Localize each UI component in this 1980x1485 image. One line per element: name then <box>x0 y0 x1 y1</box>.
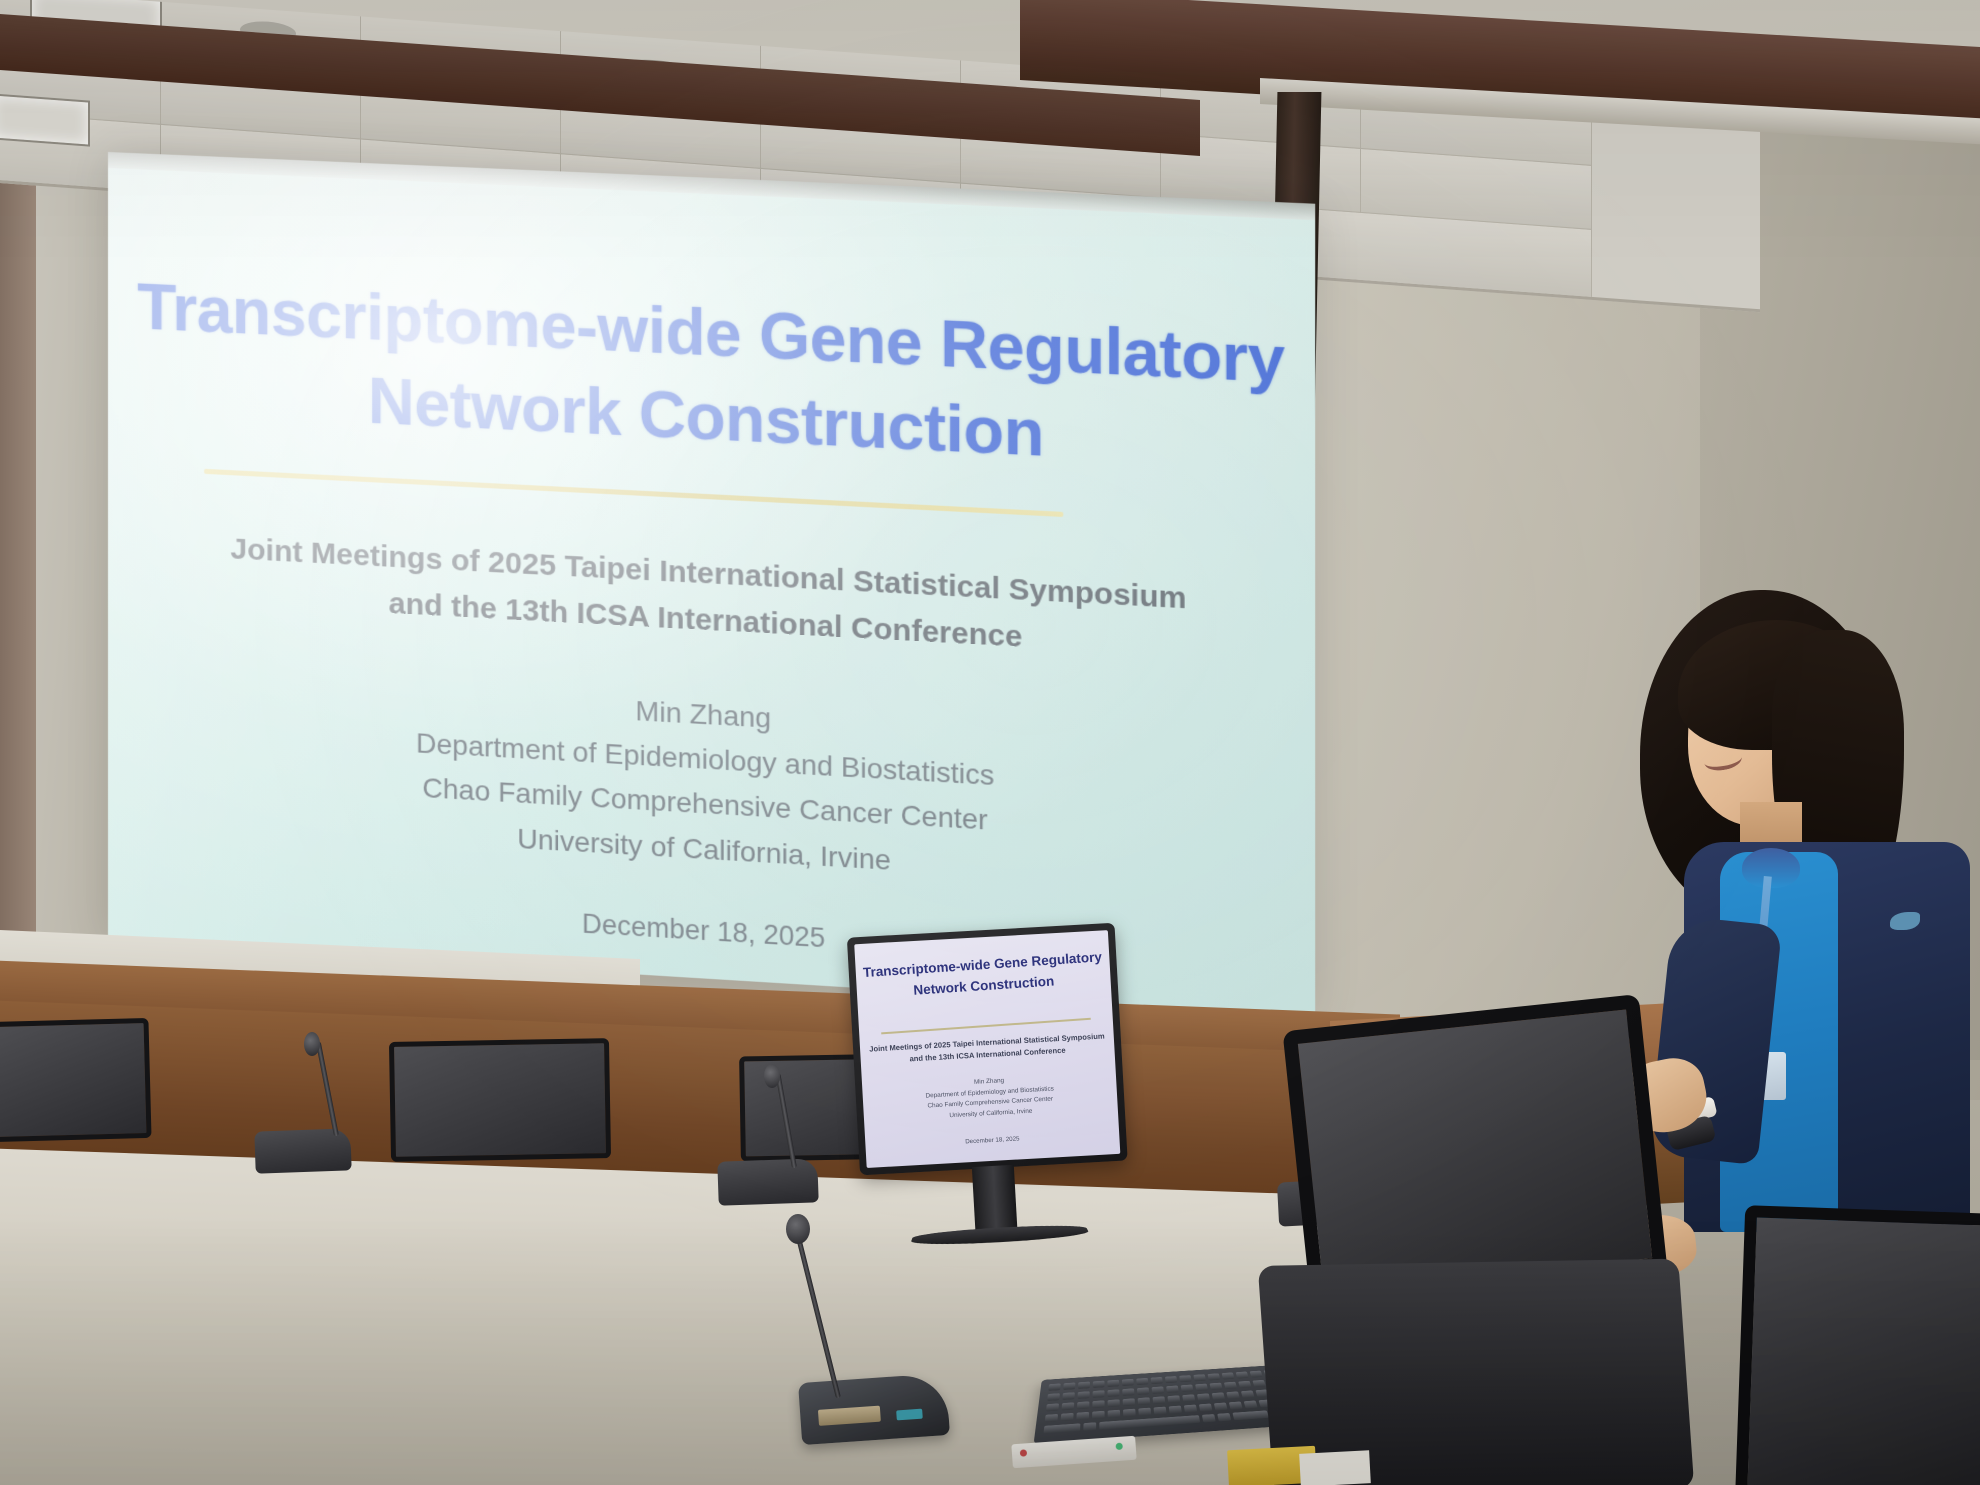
monitor-bezel: Transcriptome-wide Gene Regulatory Netwo… <box>847 923 1128 1176</box>
desk-microphone-capsule <box>786 1214 810 1244</box>
slide-divider-rule <box>204 469 1063 517</box>
right-side-chair <box>1735 1205 1980 1485</box>
table-microphone-head-1 <box>304 1032 320 1056</box>
slide-conference-block: Joint Meetings of 2025 Taipei Internatio… <box>108 520 1315 676</box>
desk-microphone-unit[interactable] <box>798 1373 950 1445</box>
ceiling-light <box>0 93 90 146</box>
presenter-confidence-monitor[interactable]: Transcriptome-wide Gene Regulatory Netwo… <box>847 923 1131 1237</box>
monitor-screen: Transcriptome-wide Gene Regulatory Netwo… <box>854 930 1120 1168</box>
table-microphone-base-2 <box>717 1158 818 1205</box>
desk-microphone-indicator <box>896 1409 923 1421</box>
chair-back-center-left <box>389 1038 611 1162</box>
monitor-divider-rule <box>881 1018 1091 1035</box>
desk-microphone-label-plate <box>818 1406 881 1426</box>
wall-left-shadow <box>0 120 36 1000</box>
monitor-stand-neck <box>972 1165 1018 1231</box>
foreground-chair <box>1296 1012 1696 1485</box>
chair-back-left <box>0 1018 152 1142</box>
projection-screen: Transcriptome-wide Gene Regulatory Netwo… <box>108 152 1315 1016</box>
slide-author-block: Min Zhang Department of Epidemiology and… <box>108 660 1315 908</box>
monitor-author-block: Min Zhang Department of Epidemiology and… <box>862 1070 1118 1126</box>
monitor-slide-title: Transcriptome-wide Gene Regulatory Netwo… <box>855 947 1111 1006</box>
remote-indicator-green <box>1115 1443 1122 1450</box>
monitor-slide-date: December 18, 2025 <box>865 1130 1119 1151</box>
table-microphone-head-2 <box>764 1064 780 1088</box>
remote-indicator-red <box>1020 1449 1027 1456</box>
monitor-conference-block: Joint Meetings of 2025 Taipei Internatio… <box>860 1030 1115 1068</box>
slide-title: Transcriptome-wide Gene Regulatory Netwo… <box>108 264 1315 490</box>
slide-content: Transcriptome-wide Gene Regulatory Netwo… <box>108 152 1315 1016</box>
white-paper-card <box>1299 1450 1371 1485</box>
foreground-chair-seat <box>1258 1259 1695 1485</box>
presentation-photo-scene: Transcriptome-wide Gene Regulatory Netwo… <box>0 0 1980 1485</box>
